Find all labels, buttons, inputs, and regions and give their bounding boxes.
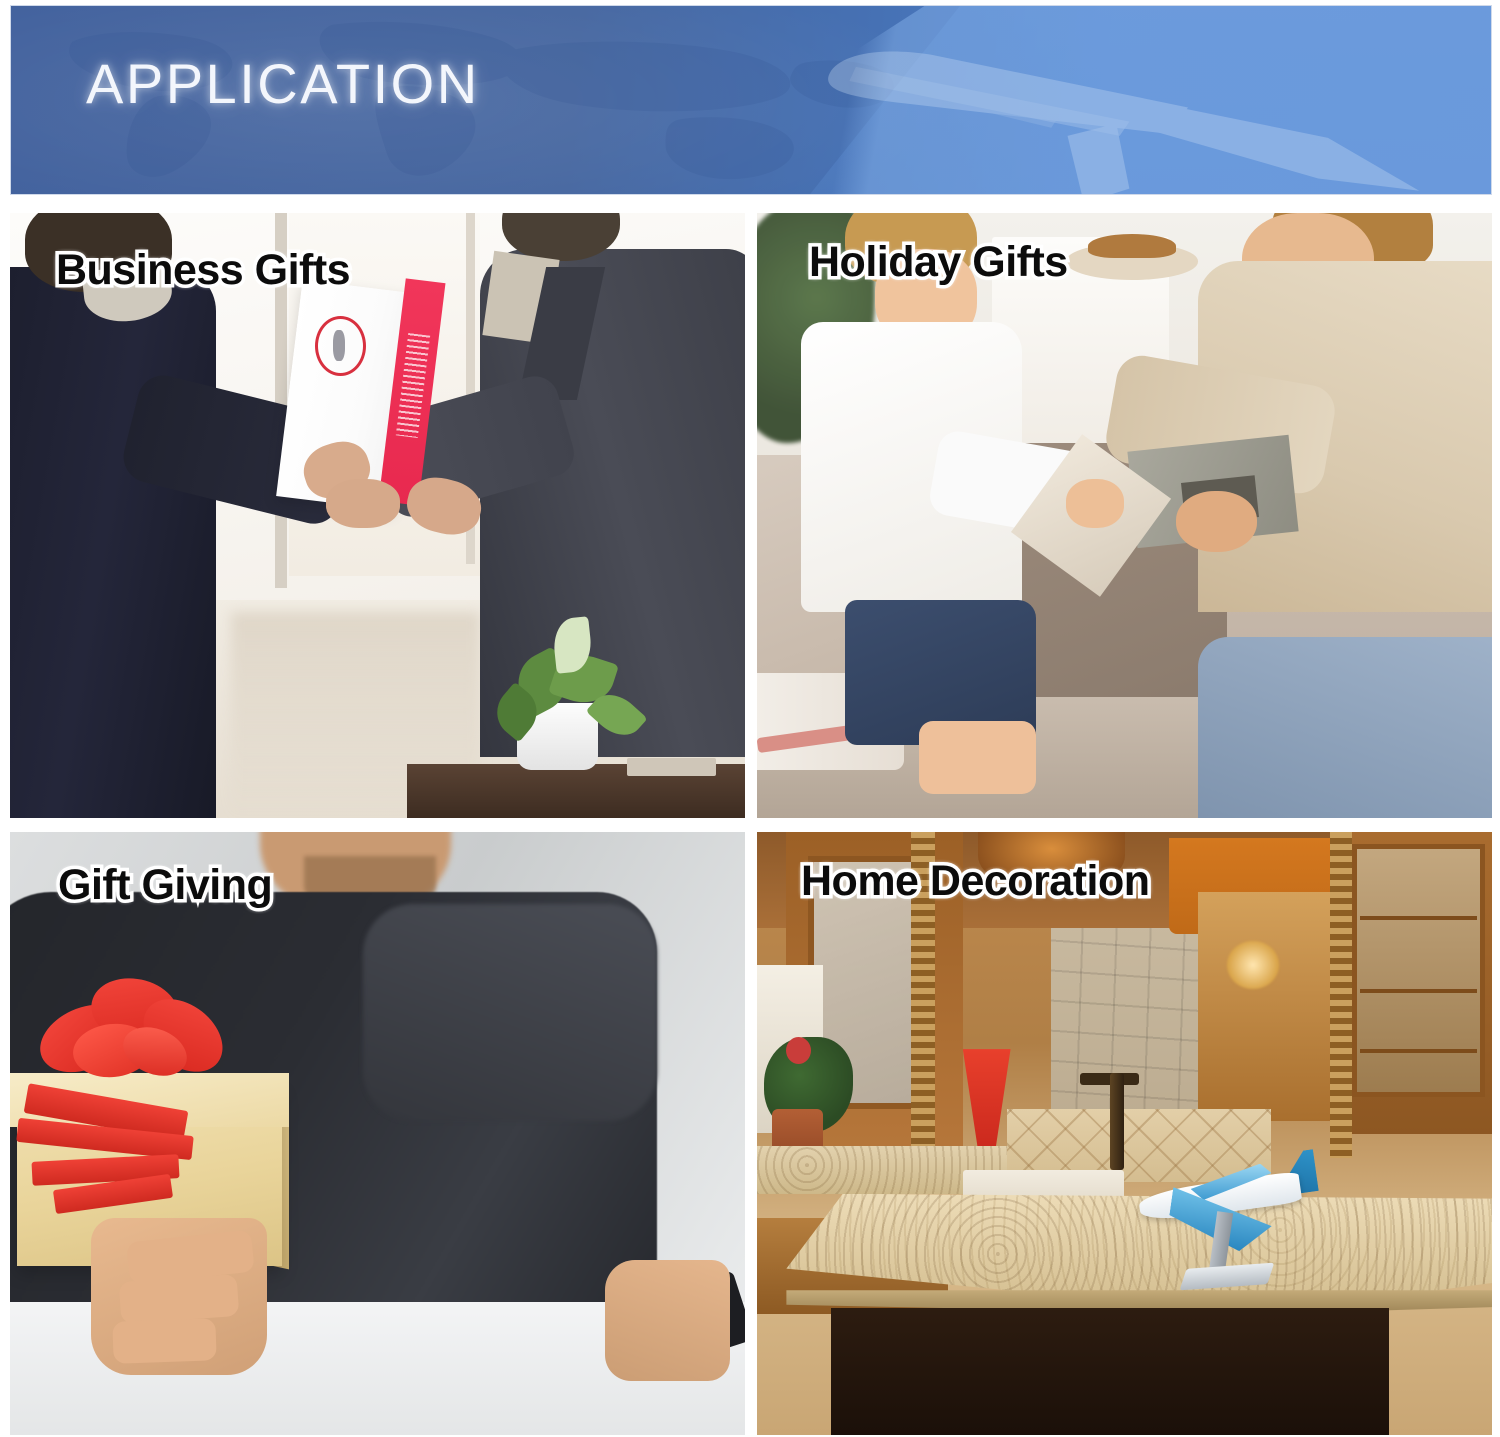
gift-giving-photo [10, 832, 745, 1435]
application-banner: APPLICATION [10, 5, 1492, 195]
caption-business-gifts: Business Gifts [56, 249, 350, 292]
caption-home-decoration: Home Decoration [801, 860, 1150, 903]
panel-holiday-gifts[interactable]: Holiday Gifts [757, 213, 1492, 818]
panel-gift-giving[interactable]: Gift Giving [10, 832, 745, 1435]
panel-business-gifts[interactable]: Business Gifts [10, 213, 745, 818]
caption-gift-giving: Gift Giving [58, 864, 272, 907]
business-gifts-photo [10, 213, 745, 818]
page-title: APPLICATION [86, 56, 480, 112]
airplane-icon [781, 10, 1432, 195]
application-collage-page: APPLICATION [0, 0, 1500, 1437]
home-decoration-photo [757, 832, 1492, 1435]
caption-holiday-gifts: Holiday Gifts [809, 241, 1068, 284]
ribbon-bow-icon [25, 971, 246, 1104]
panel-home-decoration[interactable]: Home Decoration [757, 832, 1492, 1435]
application-grid: Business Gifts [10, 213, 1492, 1435]
holiday-gifts-photo [757, 213, 1492, 818]
